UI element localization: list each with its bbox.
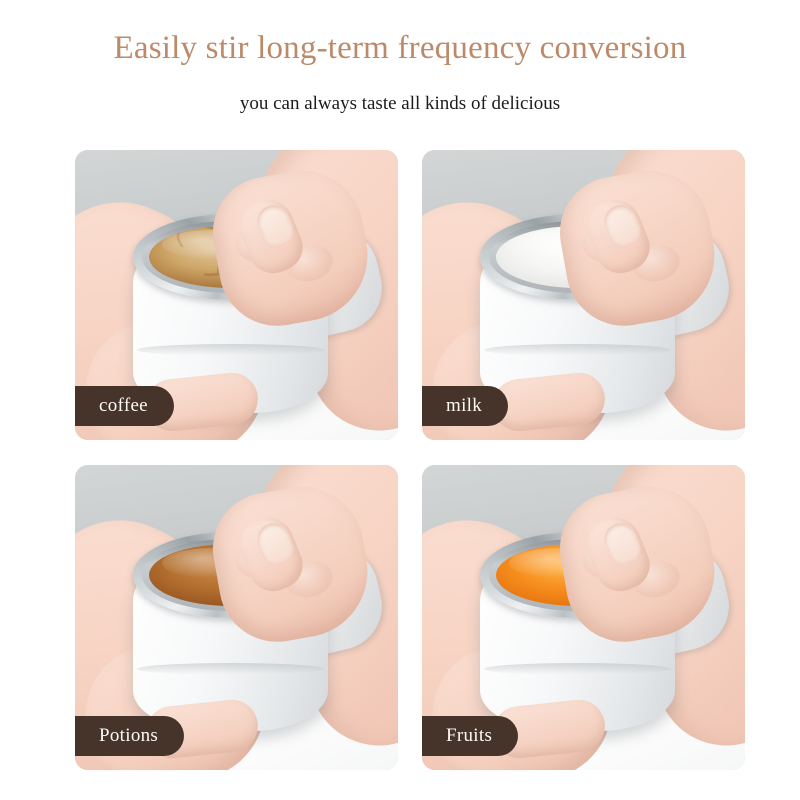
panel-label-fruits: Fruits [422,716,518,756]
photo-panel-milk[interactable]: milk [422,150,745,440]
photo-panel-coffee[interactable]: coffee [75,150,398,440]
panel-label-coffee: coffee [75,386,174,426]
header: Easily stir long-term frequency conversi… [0,0,800,116]
panel-label-milk: milk [422,386,508,426]
photo-panel-fruits[interactable]: Fruits [422,465,745,770]
product-photo-grid: coffee [75,150,725,770]
mug-seam [137,663,324,675]
panel-label-potions: Potions [75,716,184,756]
mug-seam [137,344,324,356]
mug-seam [484,344,671,356]
mug-seam [484,663,671,675]
page-title: Easily stir long-term frequency conversi… [0,28,800,68]
page-subtitle: you can always taste all kinds of delici… [0,92,800,116]
photo-panel-potions[interactable]: Potions [75,465,398,770]
